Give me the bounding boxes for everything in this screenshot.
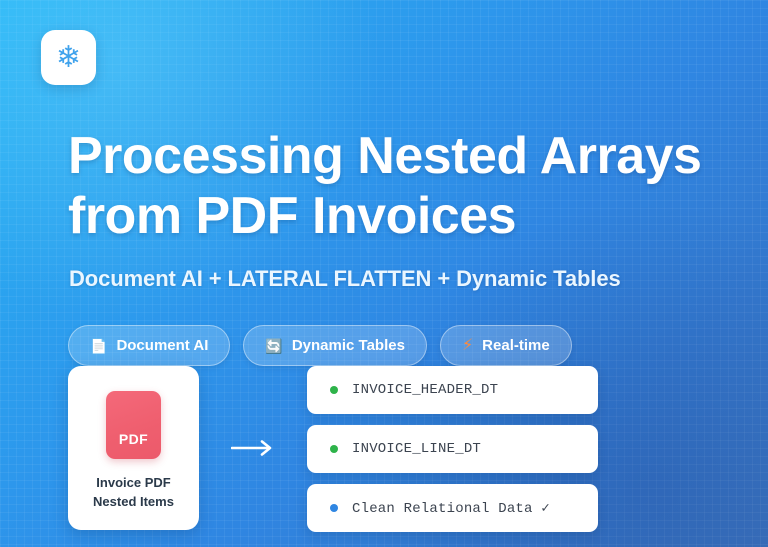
source-caption-line-2: Nested Items xyxy=(93,493,174,512)
output-table-list: INVOICE_HEADER_DT INVOICE_LINE_DT Clean … xyxy=(307,366,598,532)
lightning-bolt-icon: ⚡ xyxy=(462,338,473,354)
page-subtitle: Document AI + LATERAL FLATTEN + Dynamic … xyxy=(69,266,621,292)
document-icon: 📄 xyxy=(90,339,107,353)
output-row-invoice-header[interactable]: INVOICE_HEADER_DT xyxy=(307,366,598,414)
pill-real-time[interactable]: ⚡ Real-time xyxy=(440,325,572,366)
brand-logo-badge: ❄ xyxy=(41,30,96,85)
status-dot-green-header xyxy=(330,386,338,394)
pill-document-ai-label: Document AI xyxy=(116,337,208,354)
sync-icon: 🔄 xyxy=(265,339,282,353)
output-row-clean-relational-data[interactable]: Clean Relational Data ✓ xyxy=(307,484,598,532)
pdf-badge-label: PDF xyxy=(119,431,148,447)
pill-dynamic-tables[interactable]: 🔄 Dynamic Tables xyxy=(243,325,427,366)
output-row-label: INVOICE_LINE_DT xyxy=(352,441,481,457)
output-row-invoice-line[interactable]: INVOICE_LINE_DT xyxy=(307,425,598,473)
source-document-caption: Invoice PDF Nested Items xyxy=(93,474,174,512)
output-row-label: Clean Relational Data ✓ xyxy=(352,500,550,517)
right-arrow-icon xyxy=(228,436,280,460)
pill-real-time-label: Real-time xyxy=(482,337,550,354)
page-title-line-2: from PDF Invoices xyxy=(68,186,728,246)
snowflake-icon: ❄ xyxy=(56,43,81,73)
status-dot-green-line xyxy=(330,445,338,453)
page-title-line-1: Processing Nested Arrays xyxy=(68,126,728,186)
source-document-card[interactable]: PDF Invoice PDF Nested Items xyxy=(68,366,199,530)
source-caption-line-1: Invoice PDF xyxy=(93,474,174,493)
feature-pill-row: 📄 Document AI 🔄 Dynamic Tables ⚡ Real-ti… xyxy=(68,325,572,366)
slide-root: ❄ Processing Nested Arrays from PDF Invo… xyxy=(0,0,768,547)
flow-diagram: PDF Invoice PDF Nested Items INVOICE_HEA… xyxy=(68,366,708,532)
pdf-file-icon: PDF xyxy=(106,391,161,459)
pill-dynamic-tables-label: Dynamic Tables xyxy=(292,337,405,354)
output-row-label: INVOICE_HEADER_DT xyxy=(352,382,498,398)
status-dot-blue-clean xyxy=(330,504,338,512)
pill-document-ai[interactable]: 📄 Document AI xyxy=(68,325,230,366)
page-title: Processing Nested Arrays from PDF Invoic… xyxy=(68,126,728,247)
